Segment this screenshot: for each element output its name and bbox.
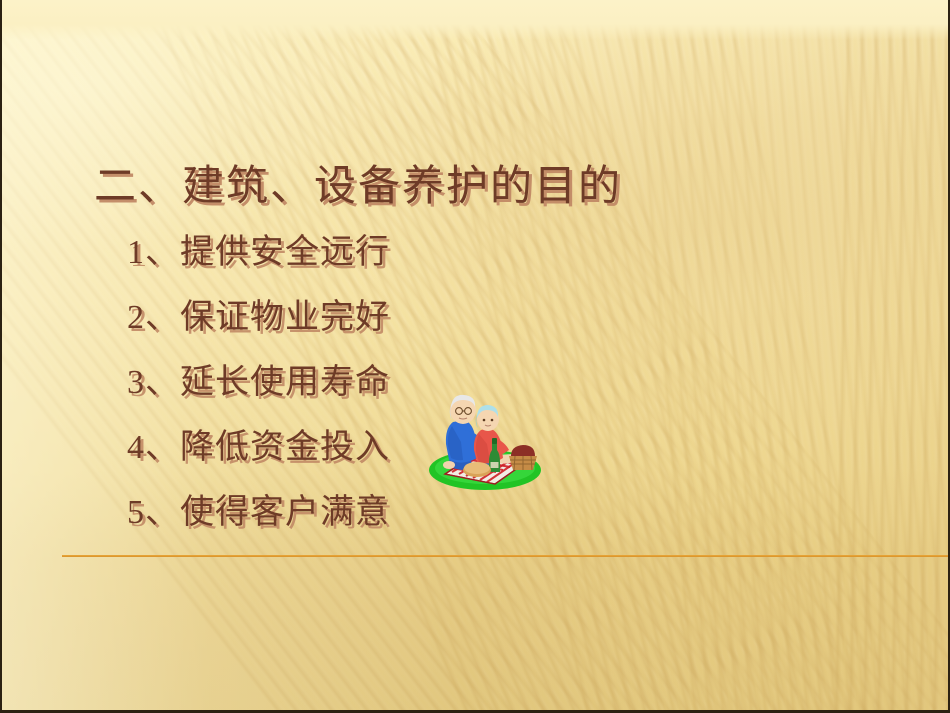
objective-list: 1、提供安全远行 2、保证物业完好 3、延长使用寿命 4、降低资金投入 5、使得… [127, 236, 390, 530]
list-item: 5、使得客户满意 [127, 496, 390, 530]
presentation-slide: 二、建筑、设备养护的目的 1、提供安全远行 2、保证物业完好 3、延长使用寿命 … [0, 0, 950, 713]
stripe-band-4 [612, 0, 950, 713]
list-item: 4、降低资金投入 [127, 431, 390, 465]
footer-divider-line [62, 555, 948, 557]
elderly-couple-picnic-clipart [425, 386, 545, 492]
list-item: 3、延长使用寿命 [127, 366, 390, 400]
list-item: 2、保证物业完好 [127, 301, 390, 335]
slide-background-top-cap [2, 0, 948, 40]
stripe-band-3 [377, 0, 950, 713]
list-item: 1、提供安全远行 [127, 236, 390, 270]
stripe-band-5 [826, 0, 950, 713]
slide-title: 二、建筑、设备养护的目的 [94, 166, 622, 208]
